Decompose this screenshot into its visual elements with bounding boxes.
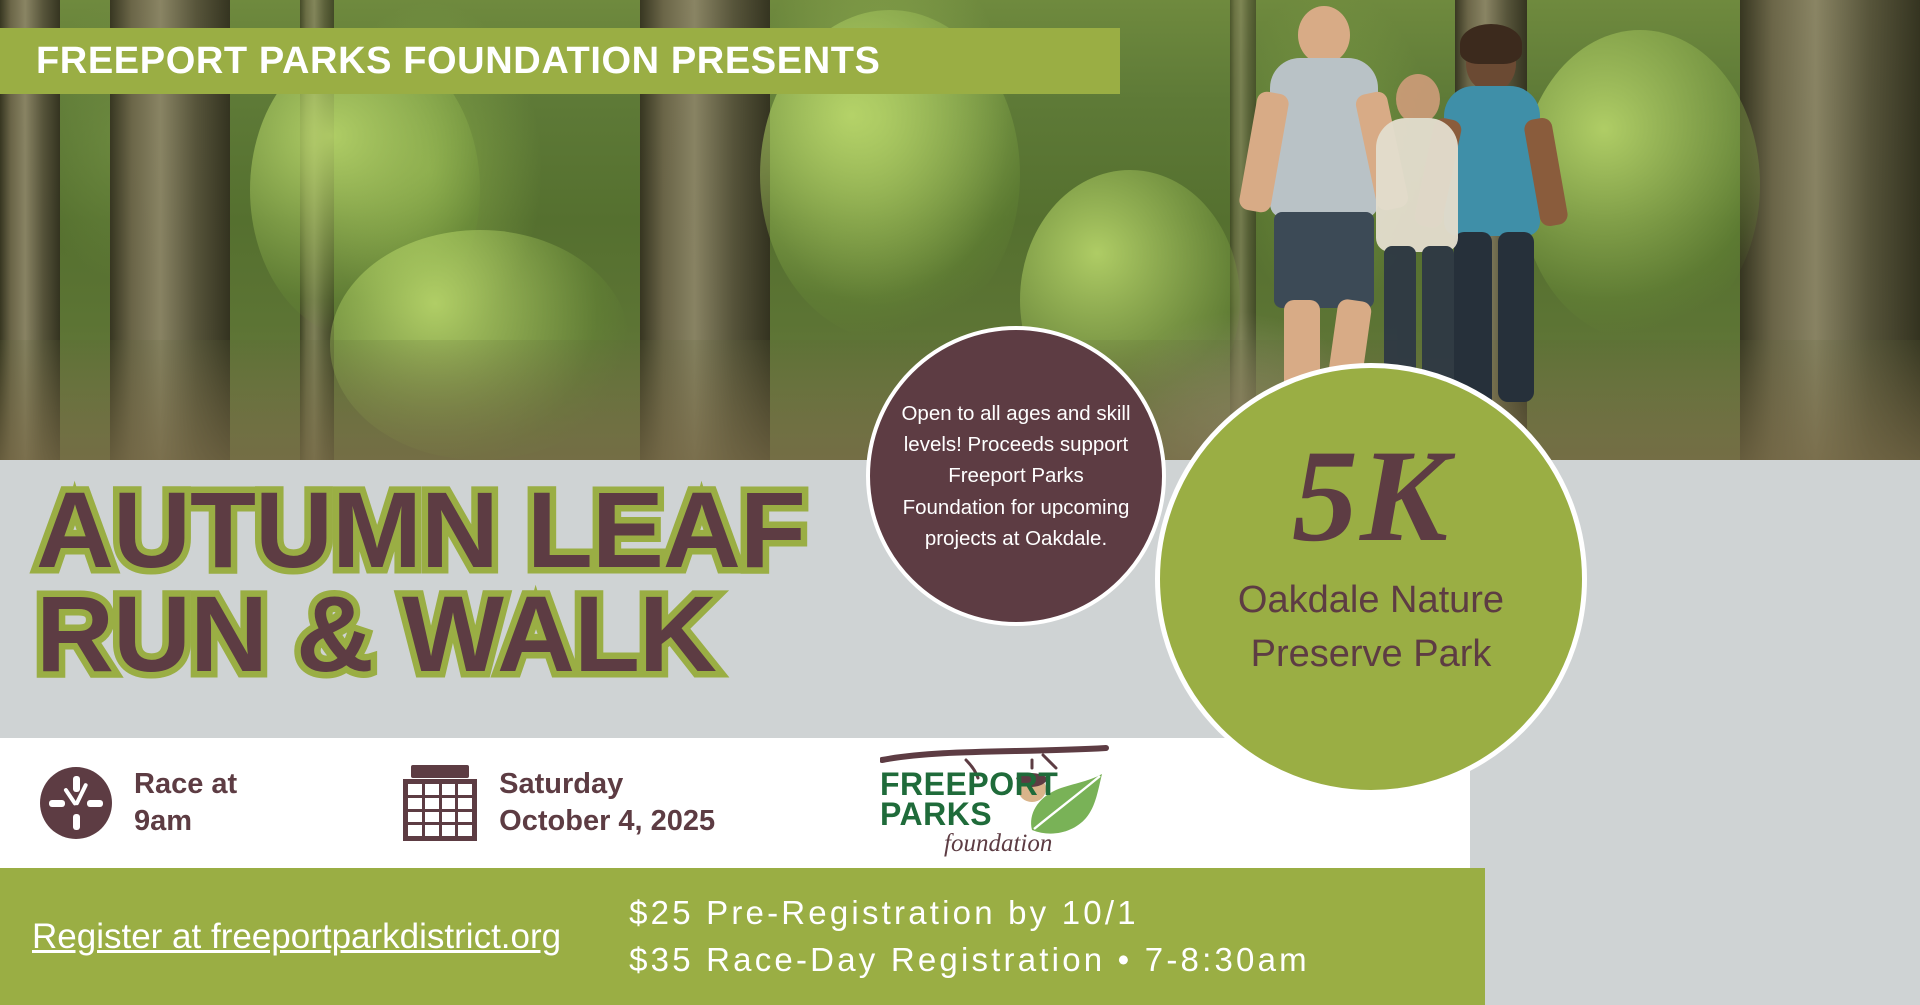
presenter-text: FREEPORT PARKS FOUNDATION PRESENTS bbox=[0, 40, 881, 83]
race-time-line-2: 9am bbox=[134, 803, 237, 840]
title-line-1: AUTUMN LEAF bbox=[36, 478, 936, 582]
event-details-text: Open to all ages and skill levels! Proce… bbox=[870, 398, 1162, 554]
registration-link[interactable]: Register at freeportparkdistrict.org bbox=[0, 917, 561, 957]
venue-line-2: Preserve Park bbox=[1160, 628, 1582, 682]
registration-bar: Register at freeportparkdistrict.org $25… bbox=[0, 868, 1485, 1005]
event-title: AUTUMN LEAF RUN & WALK bbox=[36, 478, 936, 685]
distance-badge: 5K Oakdale Nature Preserve Park bbox=[1155, 363, 1587, 795]
race-date-line-2: October 4, 2025 bbox=[499, 803, 715, 840]
logo-text-line-3: foundation bbox=[944, 830, 1052, 858]
race-date-info: Saturday October 4, 2025 bbox=[403, 765, 715, 841]
race-time-line-1: Race at bbox=[134, 766, 237, 803]
title-line-2: RUN & WALK bbox=[36, 582, 936, 686]
price-line-1: $25 Pre-Registration by 10/1 bbox=[629, 890, 1310, 937]
foundation-logo: FREEPORT PARKS foundation bbox=[880, 744, 1110, 862]
event-details-badge: Open to all ages and skill levels! Proce… bbox=[866, 326, 1166, 626]
logo-text-line-2: PARKS bbox=[880, 796, 992, 833]
venue-line-1: Oakdale Nature bbox=[1160, 574, 1582, 628]
clock-icon bbox=[40, 767, 112, 839]
presenter-banner: FREEPORT PARKS FOUNDATION PRESENTS bbox=[0, 28, 1120, 94]
distance-value: 5K bbox=[1160, 430, 1582, 562]
race-time-info: Race at 9am bbox=[40, 766, 237, 840]
calendar-icon bbox=[403, 765, 477, 841]
pricing-block: $25 Pre-Registration by 10/1 $35 Race-Da… bbox=[629, 890, 1310, 984]
race-date-line-1: Saturday bbox=[499, 766, 715, 803]
branch-icon bbox=[882, 748, 1106, 760]
price-line-2: $35 Race-Day Registration • 7-8:30am bbox=[629, 937, 1310, 984]
